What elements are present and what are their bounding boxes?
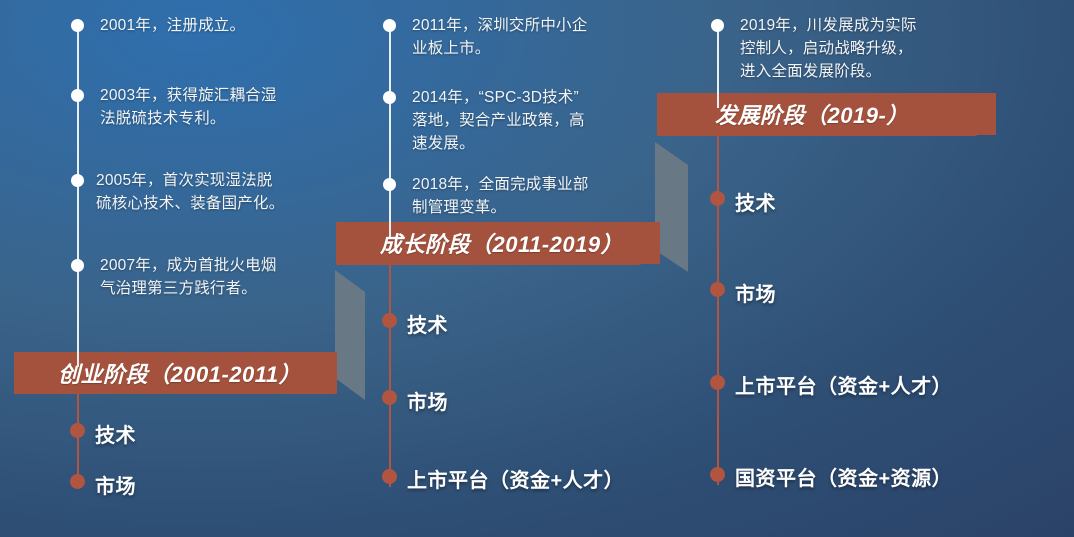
event-stage-3-1: 2019年，川发展成为实际 控制人，启动战略升级， 进入全面发展阶段。 — [740, 14, 984, 83]
timeline-dot-stage-1-4 — [71, 259, 84, 272]
timeline-slide: 创业阶段（2001-2011） 成长阶段（2011-2019） 发展阶段（201… — [0, 0, 1074, 537]
pillar-dot-stage-3-1 — [710, 191, 725, 206]
pillar-stage-1-1: 技术 — [95, 419, 136, 448]
event-stage-2-3: 2018年，全面完成事业部 制管理变革。 — [412, 173, 652, 219]
timeline-dot-stage-1-3 — [71, 174, 84, 187]
banner-stage-3-label: 发展阶段（2019-） — [715, 98, 909, 130]
pillar-dot-stage-2-2 — [382, 390, 397, 405]
event-stage-1-3: 2005年，首次实现湿法脱 硫核心技术、装备国产化。 — [96, 169, 344, 215]
timeline-line-stage-3 — [717, 22, 719, 108]
timeline-dot-stage-2-2 — [383, 91, 396, 104]
pillar-line-stage-2 — [389, 265, 391, 487]
event-stage-1-4: 2007年，成为首批火电烟 气治理第三方践行者。 — [100, 254, 340, 300]
pillar-line-stage-3 — [717, 136, 719, 485]
pillar-stage-1-2: 市场 — [95, 470, 136, 499]
timeline-dot-stage-2-3 — [383, 178, 396, 191]
event-stage-1-1: 2001年，注册成立。 — [100, 14, 330, 37]
pillar-stage-2-1: 技术 — [407, 309, 448, 338]
pillar-dot-stage-3-2 — [710, 282, 725, 297]
pillar-stage-3-2: 市场 — [735, 278, 776, 307]
pillar-stage-3-4: 国资平台（资金+资源） — [735, 462, 952, 491]
pillar-dot-stage-2-3 — [382, 469, 397, 484]
event-stage-1-2: 2003年，获得旋汇耦合湿 法脱硫技术专利。 — [100, 84, 340, 130]
pillar-stage-2-3: 上市平台（资金+人才） — [407, 464, 624, 493]
timeline-dot-stage-1-1 — [71, 19, 84, 32]
timeline-dot-stage-3-1 — [711, 19, 724, 32]
pillar-dot-stage-1-1 — [70, 423, 85, 438]
banner-stage-3[interactable]: 发展阶段（2019-） — [657, 93, 996, 135]
timeline-line-stage-2 — [389, 22, 391, 237]
pillar-dot-stage-1-2 — [70, 474, 85, 489]
timeline-dot-stage-2-1 — [383, 19, 396, 32]
pillar-stage-2-2: 市场 — [407, 386, 448, 415]
pillar-dot-stage-3-3 — [710, 375, 725, 390]
pillar-stage-3-3: 上市平台（资金+人才） — [735, 370, 952, 399]
banner-stage-2[interactable]: 成长阶段（2011-2019） — [336, 222, 660, 264]
banner-stage-2-label: 成长阶段（2011-2019） — [380, 227, 623, 259]
banner-stage-1-label: 创业阶段（2001-2011） — [58, 357, 301, 389]
pillar-dot-stage-2-1 — [382, 313, 397, 328]
pillar-stage-3-1: 技术 — [735, 187, 776, 216]
banner-stage-1[interactable]: 创业阶段（2001-2011） — [14, 352, 337, 394]
event-stage-2-2: 2014年，“SPC-3D技术” 落地，契合产业政策，高 速发展。 — [412, 86, 648, 155]
pillar-dot-stage-3-4 — [710, 467, 725, 482]
event-stage-2-1: 2011年，深圳交所中小企 业板上市。 — [412, 14, 642, 60]
timeline-line-stage-1 — [77, 22, 79, 367]
timeline-dot-stage-1-2 — [71, 89, 84, 102]
